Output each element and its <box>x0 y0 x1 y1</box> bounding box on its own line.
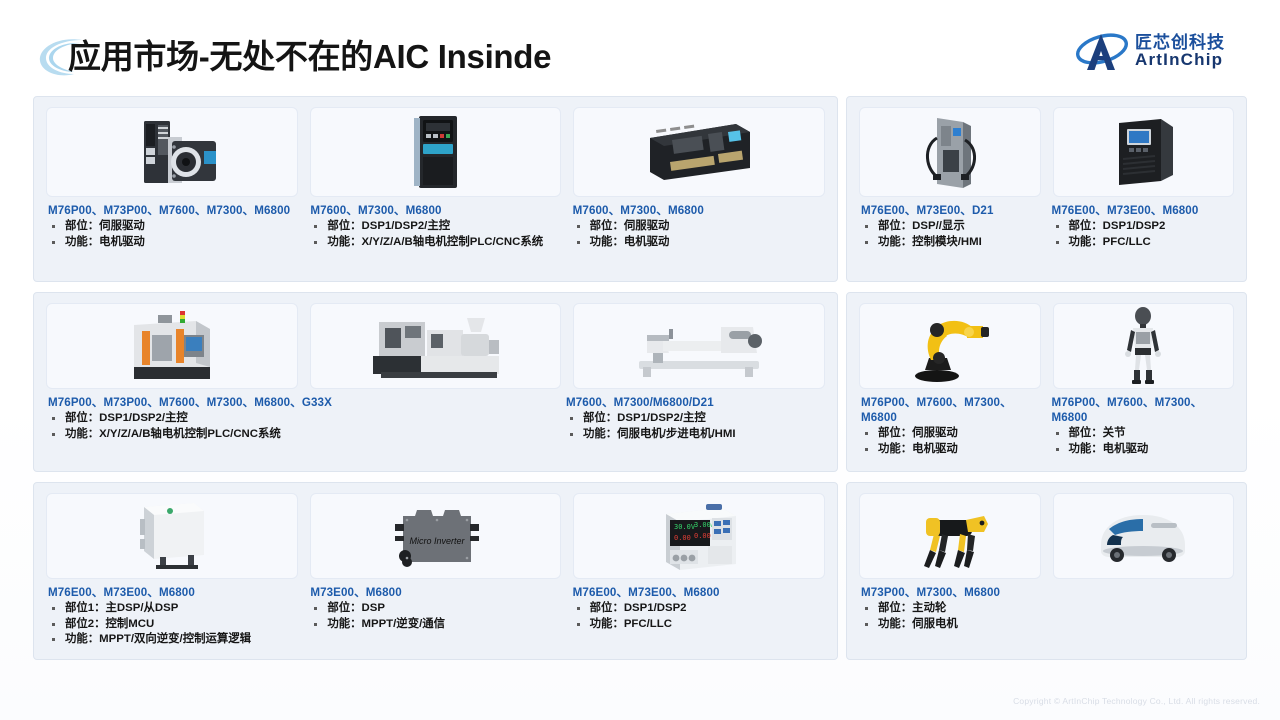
spec-item: 部位：DSP1/DSP2/主控 <box>566 411 815 427</box>
spec-item: 功能：伺服电机 <box>861 617 1034 633</box>
product-card[interactable]: 30.0V3.00A 0.000.00 <box>573 493 825 579</box>
product-card[interactable] <box>1053 303 1235 389</box>
spec-item: 部位2：控制MCU <box>48 617 290 633</box>
plc-module-image <box>640 116 758 188</box>
panel-industrial-row1: M76P00、M73P00、M7600、M7300、M6800 部位：伺服驱动 … <box>33 96 838 282</box>
spec-item: 部位：伺服驱动 <box>861 426 1034 442</box>
product-card[interactable] <box>859 303 1041 389</box>
spec-block: M76P00、M7600、M7300、M6800 部位：伺服驱动 功能：电机驱动 <box>861 395 1042 457</box>
vfd-inverter-image <box>401 113 471 191</box>
product-card[interactable] <box>1053 493 1235 579</box>
spec-strip: M76E00、M73E00、D21 部位：DSP//显示 功能：控制模块/HMI… <box>847 203 1246 250</box>
panel-energy-row3: Micro Inverter 3 <box>33 482 838 660</box>
spec-bullets: 部位：伺服驱动 功能：电机驱动 <box>861 426 1034 457</box>
spec-bullets: 部位：伺服驱动 功能：电机驱动 <box>48 219 290 250</box>
delivery-robot-image <box>1091 505 1195 567</box>
chip-model-list: M76E00、M73E00、M6800 <box>48 585 290 600</box>
page-title: 应用市场-无处不在的AIC Insinde <box>68 30 551 78</box>
chip-model-list: M76E00、M73E00、D21 <box>861 203 1034 218</box>
card-strip <box>34 303 837 389</box>
card-strip <box>847 303 1246 389</box>
panel-power-row1: M76E00、M73E00、D21 部位：DSP//显示 功能：控制模块/HMI… <box>846 96 1247 282</box>
spec-item: 部位：伺服驱动 <box>48 219 290 235</box>
spec-item: 部位：伺服驱动 <box>573 219 815 235</box>
chip-model-list: M73P00、M7300、M6800 <box>861 585 1034 600</box>
product-card[interactable] <box>310 303 562 389</box>
string-solar-inverter-image <box>126 497 218 575</box>
chip-model-list: M76P00、M7600、M7300、M6800 <box>861 395 1034 425</box>
spec-strip: M76P00、M7600、M7300、M6800 部位：伺服驱动 功能：电机驱动… <box>847 395 1246 457</box>
spec-bullets: 部位：DSP//显示 功能：控制模块/HMI <box>861 219 1034 250</box>
spec-item: 功能：MPPT/双向逆变/控制运算逻辑 <box>48 632 290 648</box>
spec-block: M73P00、M7300、M6800 部位：主动轮 功能：伺服电机 <box>861 585 1042 632</box>
spec-bullets: 部位：关节 功能：电机驱动 <box>1052 426 1225 457</box>
spec-item: 部位：DSP1/DSP2 <box>1052 219 1225 235</box>
spec-block: M7600、M7300/M6800/D21 部位：DSP1/DSP2/主控 功能… <box>566 395 823 442</box>
card-strip: Micro Inverter 3 <box>34 493 837 579</box>
spec-item: 功能：控制模块/HMI <box>861 235 1034 251</box>
spec-block-empty <box>1052 585 1233 632</box>
spec-item: 功能：电机驱动 <box>48 235 290 251</box>
card-strip <box>847 493 1246 579</box>
spec-item: 功能：X/Y/Z/A/B轴电机控制PLC/CNC系统 <box>310 235 552 251</box>
product-card[interactable]: Micro Inverter <box>310 493 562 579</box>
spec-item: 功能：伺服电机/步进电机/HMI <box>566 427 815 443</box>
spec-bullets: 部位：DSP1/DSP2/主控 功能：X/Y/Z/A/B轴电机控制PLC/CNC… <box>310 219 552 250</box>
spec-block: M76P00、M73P00、M7600、M7300、M6800、G33X 部位：… <box>48 395 554 442</box>
spec-strip: M73P00、M7300、M6800 部位：主动轮 功能：伺服电机 <box>847 585 1246 632</box>
spec-bullets: 部位：DSP 功能：MPPT/逆变/通信 <box>310 601 552 632</box>
card-strip <box>34 107 837 197</box>
spec-strip: M76P00、M73P00、M7600、M7300、M6800、G33X 部位：… <box>34 395 837 442</box>
chip-model-list: M76P00、M7600、M7300、M6800 <box>1052 395 1225 425</box>
svg-text:Micro Inverter: Micro Inverter <box>409 536 465 546</box>
spec-item: 功能：PFC/LLC <box>1052 235 1225 251</box>
svg-text:30.0V: 30.0V <box>674 523 696 531</box>
spec-bullets: 部位1：主DSP/从DSP 部位2：控制MCU 功能：MPPT/双向逆变/控制运… <box>48 601 290 648</box>
product-card[interactable] <box>859 493 1041 579</box>
artinchip-logo-mark-icon <box>1075 30 1129 72</box>
spec-item: 功能：电机驱动 <box>573 235 815 251</box>
spec-block: M7600、M7300、M6800 部位：DSP1/DSP2/主控 功能：X/Y… <box>310 203 560 250</box>
product-card[interactable] <box>46 107 298 197</box>
product-card[interactable] <box>1053 107 1235 197</box>
spec-item: 功能：电机驱动 <box>1052 442 1225 458</box>
copyright-notice: Copyright © ArtInChip Technology Co., Lt… <box>1013 696 1260 706</box>
chip-model-list: M76P00、M73P00、M7600、M7300、M6800 <box>48 203 290 218</box>
chip-model-list: M7600、M7300、M6800 <box>310 203 552 218</box>
spec-bullets: 部位：DSP1/DSP2/主控 功能：X/Y/Z/A/B轴电机控制PLC/CNC… <box>48 411 546 442</box>
spec-item: 功能：MPPT/逆变/通信 <box>310 617 552 633</box>
micro-inverter-image: Micro Inverter <box>381 498 491 574</box>
spec-block: M73E00、M6800 部位：DSP 功能：MPPT/逆变/通信 <box>310 585 560 648</box>
chip-model-list: M76E00、M73E00、M6800 <box>573 585 815 600</box>
product-card[interactable] <box>46 303 298 389</box>
chip-model-list: M7600、M7300/M6800/D21 <box>566 395 815 410</box>
industrial-sewing-machine-image <box>629 311 769 381</box>
panel-robotics-row2: M76P00、M7600、M7300、M6800 部位：伺服驱动 功能：电机驱动… <box>846 292 1247 472</box>
chip-model-list: M73E00、M6800 <box>310 585 552 600</box>
spec-item: 部位：DSP1/DSP2 <box>573 601 815 617</box>
servo-drive-motor-image <box>112 115 232 189</box>
ups-tower-image <box>1103 115 1183 189</box>
spec-bullets: 部位：DSP1/DSP2/主控 功能：伺服电机/步进电机/HMI <box>566 411 815 442</box>
spec-block: M76P00、M73P00、M7600、M7300、M6800 部位：伺服驱动 … <box>48 203 298 250</box>
spec-block: M76E00、M73E00、M6800 部位：DSP1/DSP2 功能：PFC/… <box>1052 203 1233 250</box>
spec-block: M7600、M7300、M6800 部位：伺服驱动 功能：电机驱动 <box>573 203 823 250</box>
dc-power-supply-image: 30.0V3.00A 0.000.00 <box>650 498 748 574</box>
ev-charging-station-image <box>913 112 987 192</box>
slide-header: 应用市场-无处不在的AIC Insinde 匠芯创科技 ArtInChip <box>0 0 1280 92</box>
cnc-machining-center-image <box>120 309 224 383</box>
spec-item: 部位：主动轮 <box>861 601 1034 617</box>
panel-industrial-row2: M76P00、M73P00、M7600、M7300、M6800、G33X 部位：… <box>33 292 838 472</box>
spec-item: 部位：DSP <box>310 601 552 617</box>
spec-item: 功能：X/Y/Z/A/B轴电机控制PLC/CNC系统 <box>48 427 546 443</box>
product-card[interactable] <box>46 493 298 579</box>
svg-text:0.00: 0.00 <box>694 532 711 540</box>
spec-item: 部位：关节 <box>1052 426 1225 442</box>
spec-item: 部位：DSP1/DSP2/主控 <box>310 219 552 235</box>
injection-molding-machine-image <box>361 310 511 382</box>
humanoid-robot-image <box>1113 306 1173 386</box>
spec-bullets: 部位：伺服驱动 功能：电机驱动 <box>573 219 815 250</box>
spec-item: 部位1：主DSP/从DSP <box>48 601 290 617</box>
chip-model-list: M76E00、M73E00、M6800 <box>1052 203 1225 218</box>
logo-text-en: ArtInChip <box>1135 50 1223 70</box>
spec-item: 部位：DSP1/DSP2/主控 <box>48 411 546 427</box>
spec-block: M76E00、M73E00、M6800 部位1：主DSP/从DSP 部位2：控制… <box>48 585 298 648</box>
chip-model-list: M7600、M7300、M6800 <box>573 203 815 218</box>
panel-robotics-row3: M73P00、M7300、M6800 部位：主动轮 功能：伺服电机 <box>846 482 1247 660</box>
spec-item: 部位：DSP//显示 <box>861 219 1034 235</box>
product-card[interactable] <box>573 303 825 389</box>
spec-strip: M76E00、M73E00、M6800 部位1：主DSP/从DSP 部位2：控制… <box>34 585 837 648</box>
industrial-robot-arm-image <box>907 308 993 384</box>
spec-block: M76P00、M7600、M7300、M6800 部位：关节 功能：电机驱动 <box>1052 395 1233 457</box>
chip-model-list: M76P00、M73P00、M7600、M7300、M6800、G33X <box>48 395 546 410</box>
spec-strip: M76P00、M73P00、M7600、M7300、M6800 部位：伺服驱动 … <box>34 203 837 250</box>
artinchip-logo: 匠芯创科技 ArtInChip <box>1075 28 1260 76</box>
spec-item: 功能：电机驱动 <box>861 442 1034 458</box>
spec-block: M76E00、M73E00、M6800 部位：DSP1/DSP2 功能：PFC/… <box>573 585 823 648</box>
product-card[interactable] <box>859 107 1041 197</box>
svg-text:0.00: 0.00 <box>674 534 691 542</box>
spec-bullets: 部位：DSP1/DSP2 功能：PFC/LLC <box>573 601 815 632</box>
spec-item: 功能：PFC/LLC <box>573 617 815 633</box>
quadruped-robot-dog-image <box>902 498 998 574</box>
product-card[interactable] <box>573 107 825 197</box>
product-card[interactable] <box>310 107 562 197</box>
spec-bullets: 部位：DSP1/DSP2 功能：PFC/LLC <box>1052 219 1225 250</box>
spec-bullets: 部位：主动轮 功能：伺服电机 <box>861 601 1034 632</box>
spec-block: M76E00、M73E00、D21 部位：DSP//显示 功能：控制模块/HMI <box>861 203 1042 250</box>
card-strip <box>847 107 1246 197</box>
